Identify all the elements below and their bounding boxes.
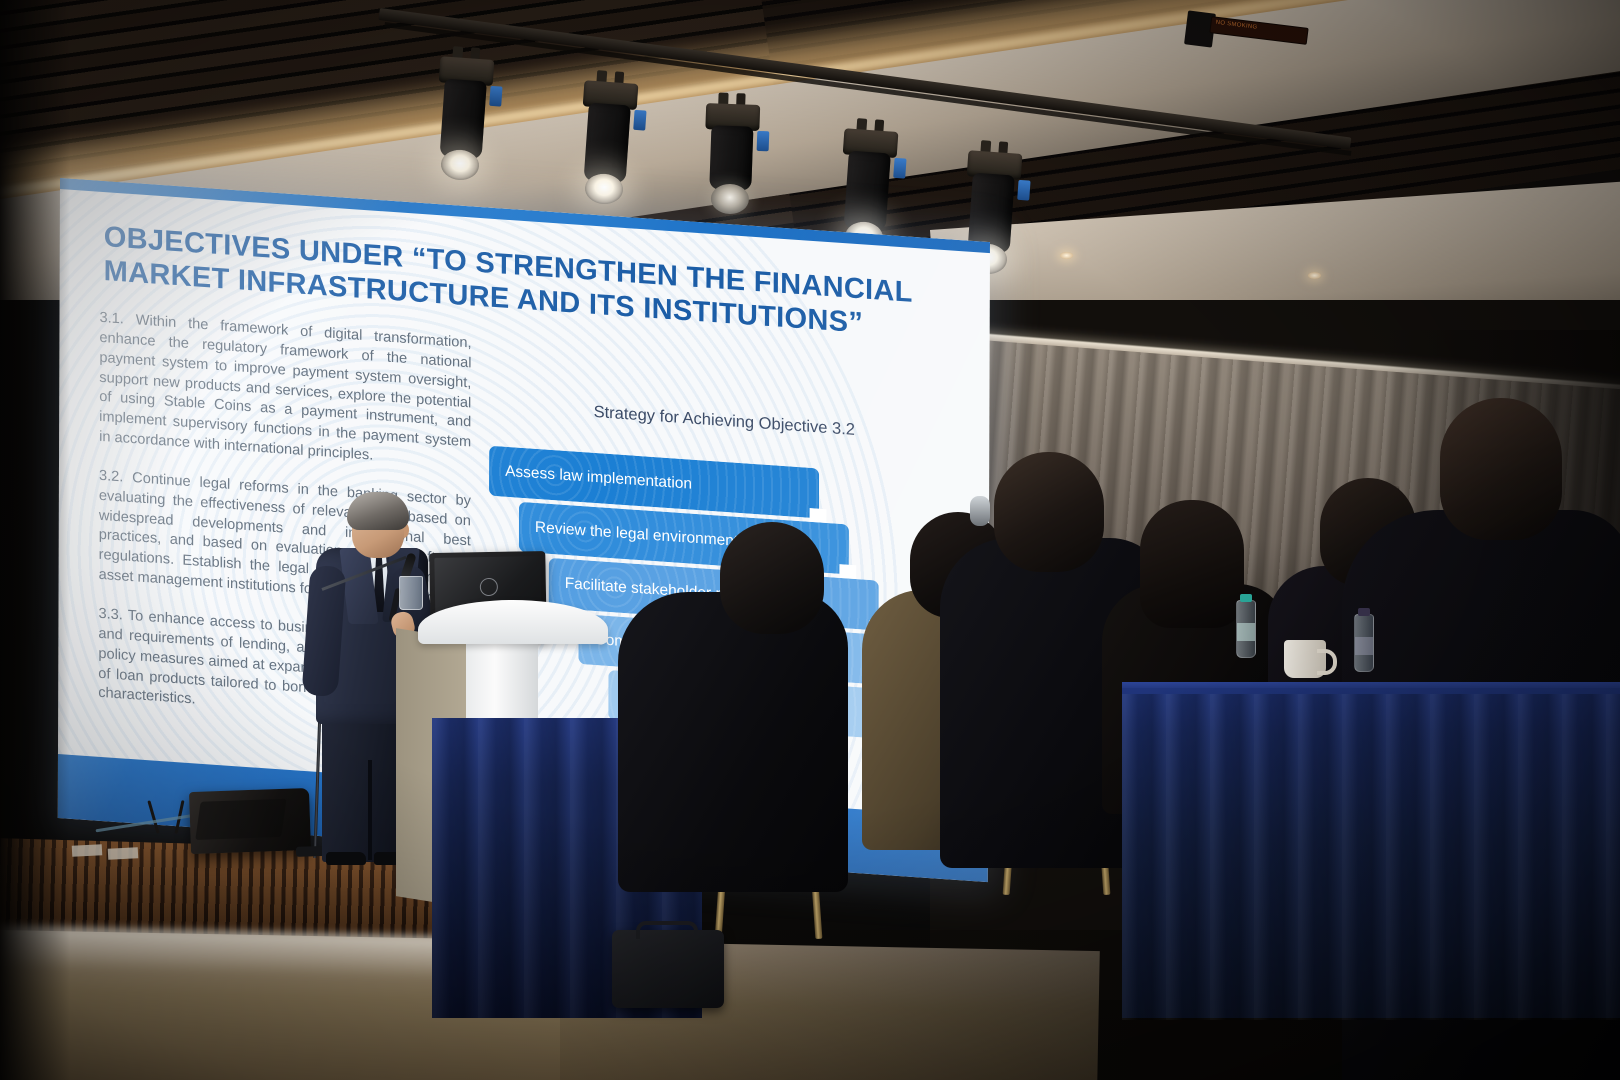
downlight-icon (1308, 272, 1321, 279)
earphone-icon (970, 496, 990, 526)
stage-monitor-speaker-icon (189, 788, 311, 854)
conference-scene: NO SMOKING OBJECTIVES UNDER “TO (0, 0, 1620, 1080)
audience-torso (618, 592, 848, 892)
audience-head (1140, 500, 1244, 628)
paper-sheet (108, 847, 139, 860)
slide-paragraph-3-1: 3.1. Within the framework of digital tra… (99, 309, 471, 474)
shoe (326, 852, 366, 865)
monitor-logo-icon (480, 578, 498, 596)
downlight-icon (1060, 252, 1073, 259)
audience-head (720, 522, 824, 634)
water-bottle-icon (1236, 600, 1256, 658)
audience-head (994, 452, 1104, 572)
head-table-skirt (1122, 694, 1620, 1020)
water-bottle-icon (1354, 614, 1374, 672)
frame-shadow-left (0, 0, 70, 1080)
flow-step-label: Assess law implementation (505, 463, 692, 494)
spotlight-icon (428, 56, 499, 188)
coffee-mug-icon (1284, 640, 1326, 678)
flow-step-label: Review the legal environment (535, 519, 738, 551)
backpack-icon (612, 930, 724, 1008)
audience-head (1440, 398, 1562, 540)
paper-sheet (72, 844, 103, 857)
